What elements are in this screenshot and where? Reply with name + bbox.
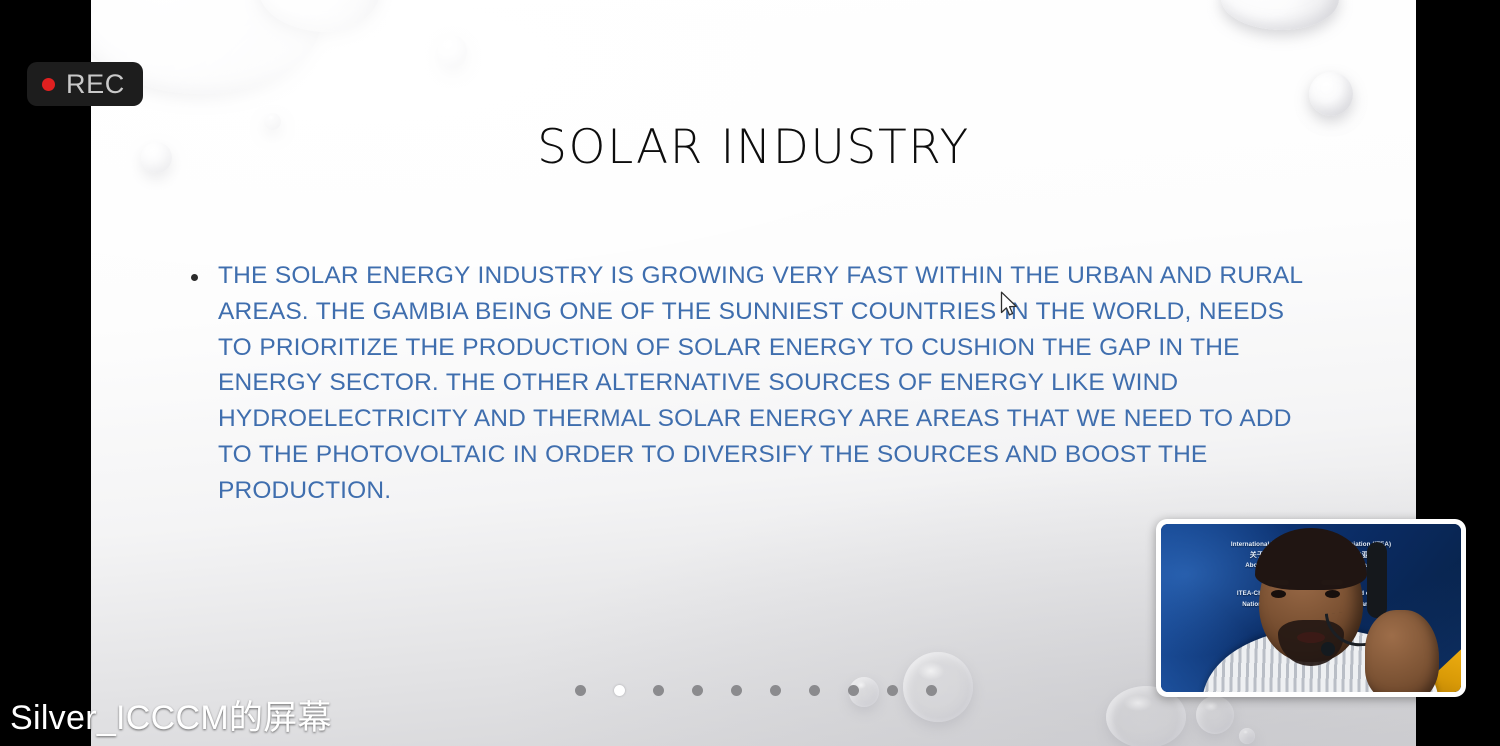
avatar-hand: [1365, 610, 1439, 692]
bullet-point-icon: [191, 274, 198, 281]
pagination-dot[interactable]: [653, 685, 664, 696]
slide-body-paragraph: THE SOLAR ENERGY INDUSTRY IS GROWING VER…: [218, 258, 1321, 509]
pagination-dot[interactable]: [731, 685, 742, 696]
pagination-dot[interactable]: [770, 685, 781, 696]
water-droplet-icon: [438, 35, 467, 68]
video-feed: International Technical Education Associ…: [1161, 524, 1461, 692]
avatar-eye: [1325, 590, 1340, 598]
screen-share-window: SOLAR INDUSTRY THE SOLAR ENERGY INDUSTRY…: [0, 0, 1500, 746]
pagination-dot[interactable]: [692, 685, 703, 696]
recording-indicator[interactable]: REC: [27, 62, 143, 106]
pagination-dot[interactable]: [575, 685, 586, 696]
pagination-dot[interactable]: [848, 685, 859, 696]
microphone-icon: [1321, 642, 1335, 656]
water-droplet-icon: [1309, 72, 1353, 116]
water-droplet-icon: [1221, 0, 1339, 30]
record-dot-icon: [42, 78, 55, 91]
pagination-dot[interactable]: [809, 685, 820, 696]
avatar-eyebrow: [1321, 580, 1343, 585]
participant-avatar: [1161, 524, 1461, 692]
avatar-mouth: [1297, 632, 1325, 643]
slide-pagination[interactable]: [575, 685, 937, 696]
pagination-dot-active[interactable]: [614, 685, 625, 696]
slide-body: THE SOLAR ENERGY INDUSTRY IS GROWING VER…: [191, 258, 1321, 509]
pagination-dot[interactable]: [887, 685, 898, 696]
headset-icon: [1367, 542, 1387, 618]
avatar-eye: [1271, 590, 1286, 598]
water-droplet-icon: [1239, 728, 1255, 744]
water-droplet-icon: [1196, 696, 1234, 734]
pagination-dot[interactable]: [926, 685, 937, 696]
avatar-eyebrow: [1267, 580, 1289, 585]
slide-title: SOLAR INDUSTRY: [91, 120, 1416, 175]
participant-video-tile[interactable]: International Technical Education Associ…: [1156, 519, 1466, 697]
recording-label: REC: [66, 71, 125, 98]
screen-share-caption: Silver_ICCCM的屏幕: [10, 699, 332, 738]
